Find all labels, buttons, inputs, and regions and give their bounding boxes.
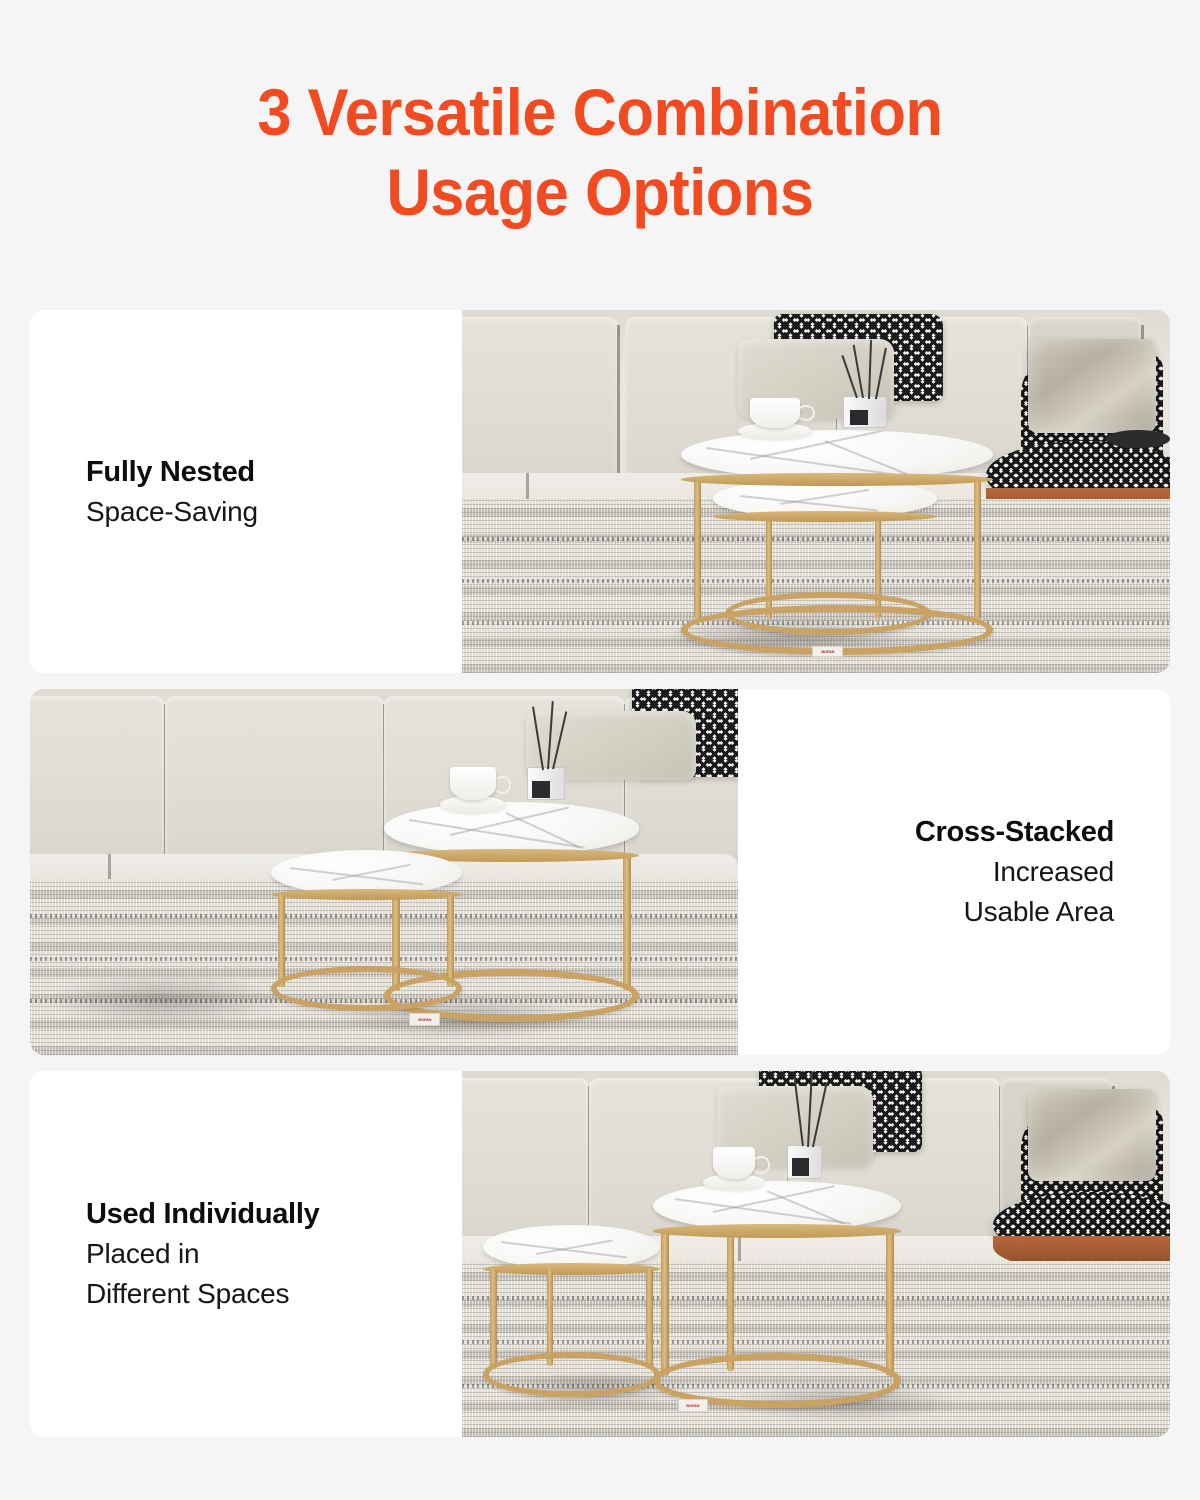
panel-cross-stacked: Cross-Stacked Increased Usable Area [30,689,1170,1055]
table-leg [547,1269,553,1365]
panel-cross-stacked-photo: BOFAN [30,689,738,1055]
panel-cross-stacked-subtitle-1: Increased [794,852,1114,892]
large-table-top [384,802,639,855]
marble-vein [780,489,869,505]
large-table-top [681,430,993,480]
small-table-rim [271,889,462,900]
table-leg [490,1269,497,1369]
diffuser-label [792,1158,809,1176]
marble-vein [290,867,423,885]
title-line-1: 3 Versatile Combination [42,72,1158,152]
panel-used-individually-title: Used Individually [86,1194,406,1234]
rug-shadow [44,974,285,1025]
panel-fully-nested-subtitle-1: Space-Saving [86,492,406,532]
brand-tag: BOFAN [409,1013,440,1026]
panel-used-individually-photo: BOFAN [462,1071,1170,1437]
cup-handle [494,776,512,794]
table-leg [974,479,981,619]
coffee-cup [450,767,496,800]
small-nesting-table [271,850,462,1011]
diffuser-label [850,410,869,426]
diffuser-label [532,781,550,799]
brand-tag: BOFAN [678,1399,708,1413]
marble-vein [739,495,877,512]
small-table-base-ring [271,966,462,1011]
table-leg [661,1231,669,1376]
panel-used-individually-text: Used Individually Placed in Different Sp… [30,1071,462,1437]
large-table-rim [681,473,993,487]
brand-tag: BOFAN [812,646,843,657]
accent-chair-pillow [1028,339,1155,433]
coffee-cup [750,398,800,427]
large-nesting-table: BOFAN [653,1181,901,1408]
marble-vein [675,1198,852,1225]
panel-fully-nested-title: Fully Nested [86,452,406,492]
table-leg [886,1231,894,1376]
small-table-base-ring [483,1352,660,1397]
table-leg [447,895,454,987]
side-tray [1106,430,1170,448]
marble-vein [767,1190,845,1224]
panel-cross-stacked-title: Cross-Stacked [794,812,1114,852]
panel-cross-stacked-subtitle-2: Usable Area [794,892,1114,932]
page-title: 3 Versatile Combination Usage Options [0,72,1200,232]
small-table-rim [713,511,937,522]
panel-fully-nested: Fully Nested Space-Saving [30,310,1170,673]
cup-handle [752,1156,769,1174]
panel-used-individually-subtitle-1: Placed in [86,1234,406,1274]
panel-fully-nested-text: Fully Nested Space-Saving [30,310,462,673]
panel-fully-nested-photo: BOFAN [462,310,1170,673]
table-leg [623,855,631,991]
table-leg [646,1269,653,1369]
panel-used-individually: Used Individually Placed in Different Sp… [30,1071,1170,1437]
table-leg [278,895,285,987]
panel-cross-stacked-text: Cross-Stacked Increased Usable Area [738,689,1170,1055]
cup-handle [797,405,816,421]
panel-used-individually-subtitle-2: Different Spaces [86,1274,406,1314]
small-table-rim [483,1263,660,1275]
marble-vein [501,1241,628,1259]
table-leg [694,479,701,619]
nesting-table-set-nested: BOFAN [681,430,993,655]
small-nesting-table [483,1225,660,1397]
table-leg [727,1231,734,1372]
large-table-rim [653,1224,901,1238]
title-line-2: Usage Options [42,152,1158,232]
accent-chair-pillow [1028,1089,1155,1181]
coffee-cup [713,1147,755,1179]
